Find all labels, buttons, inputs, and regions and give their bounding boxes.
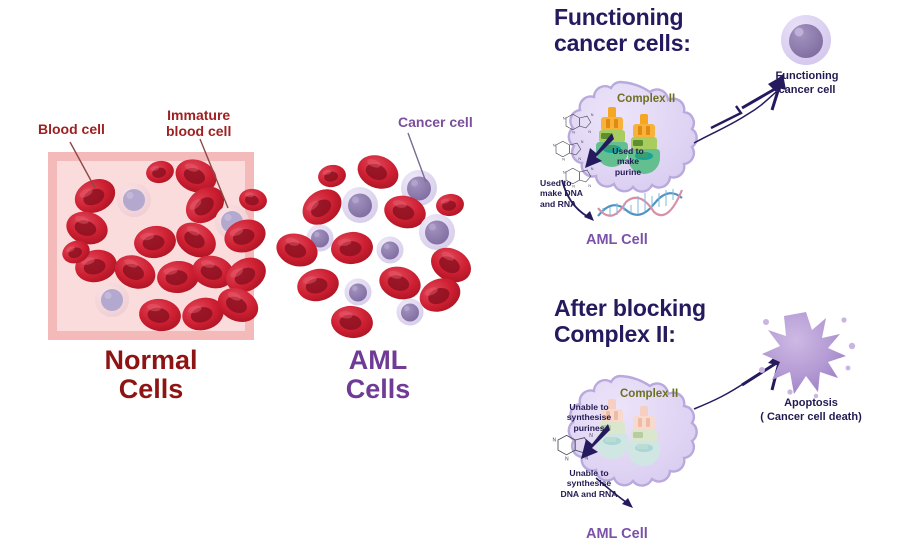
svg-text:N: N bbox=[563, 116, 566, 120]
note-used-to-make-dna-rna: Used to make DNA and RNA bbox=[540, 178, 600, 209]
dna-helix-icon-top bbox=[598, 189, 682, 216]
svg-text:N: N bbox=[591, 113, 594, 117]
svg-text:N: N bbox=[553, 143, 556, 147]
outcome-label-functioning-cancer-cell: Functioning cancer cell bbox=[768, 70, 846, 98]
leader-line-cancer-cell bbox=[408, 133, 426, 182]
purine-molecule-icon-bottom: N N N N bbox=[553, 433, 594, 462]
svg-text:N: N bbox=[572, 131, 575, 135]
note-unable-synthesise-dna-rna: Unable to synthesise DNA and RNA bbox=[552, 468, 626, 499]
aml-cell-caption-top: AML Cell bbox=[586, 232, 648, 248]
svg-text:N: N bbox=[591, 167, 594, 171]
aml-cell-caption-bottom: AML Cell bbox=[586, 526, 648, 542]
section-title-after-blocking: After blocking Complex II: bbox=[554, 296, 706, 348]
functioning-cancer-cell-icon bbox=[781, 15, 831, 65]
apoptosis-cell-icon bbox=[759, 312, 855, 398]
complex-ii-label-bottom: Complex II bbox=[620, 388, 678, 400]
caption-aml-cells: AML Cells bbox=[275, 346, 481, 404]
normal-cells-panel bbox=[48, 152, 254, 340]
note-used-to-make-purine: Used to make purine bbox=[602, 146, 654, 177]
svg-text:N: N bbox=[553, 438, 557, 444]
label-cancer-cell: Cancer cell bbox=[398, 115, 473, 131]
outcome-label-apoptosis: Apoptosis ( Cancer cell death) bbox=[756, 397, 866, 425]
label-immature-blood-cell: Immature blood cell bbox=[166, 108, 231, 139]
svg-text:N: N bbox=[581, 140, 584, 144]
svg-text:N: N bbox=[565, 456, 569, 462]
svg-text:N: N bbox=[578, 157, 581, 161]
svg-text:N: N bbox=[589, 433, 593, 439]
svg-text:N: N bbox=[562, 158, 565, 162]
caption-normal-cells: Normal Cells bbox=[48, 346, 254, 404]
svg-text:N: N bbox=[563, 170, 566, 174]
svg-text:N: N bbox=[585, 456, 589, 462]
label-blood-cell: Blood cell bbox=[38, 122, 105, 138]
complex-ii-label-top: Complex II bbox=[617, 93, 675, 105]
svg-text:N: N bbox=[588, 130, 591, 134]
note-unable-synthesise-purines: Unable to synthesise purines bbox=[558, 402, 620, 433]
diagram-canvas: Blood cell Immature blood cell Cancer ce… bbox=[0, 0, 900, 555]
section-title-functioning: Functioning cancer cells: bbox=[554, 5, 691, 57]
